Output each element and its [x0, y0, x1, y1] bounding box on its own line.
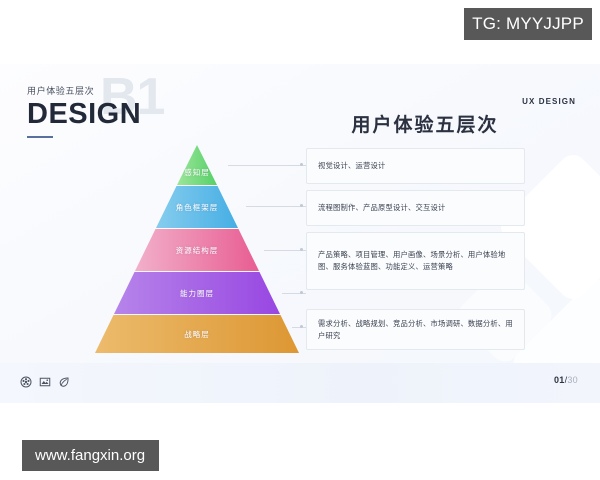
- image-frame-icon[interactable]: [39, 376, 51, 388]
- pyramid-layer-5-label: 战略层: [184, 329, 210, 340]
- pyramid-layer-2-label: 角色框架层: [176, 202, 219, 213]
- telegram-watermark-badge: TG: MYYJJPP: [464, 8, 592, 40]
- connector-line-2: [246, 206, 306, 207]
- connector-dot-4: [300, 291, 303, 294]
- connector-dot-5: [300, 325, 303, 328]
- detail-box-1[interactable]: 视觉设计、运营设计: [306, 148, 525, 184]
- connector-dot-3: [300, 248, 303, 251]
- screenshot-root: TG: MYYJJPP 用户体验五层次 B1 DESIGN UX DESIGN …: [0, 0, 600, 480]
- decorative-bottom-band: [0, 363, 600, 403]
- detail-box-3[interactable]: 产品策略、项目管理、用户画像、场景分析、用户体验地图、服务体验蓝图、功能定义、运…: [306, 232, 525, 290]
- header-accent-rule: [27, 136, 53, 138]
- detail-box-4-text: 需求分析、战略规划、竞品分析、市场调研、数据分析、用户研究: [318, 318, 513, 342]
- corner-tag: UX DESIGN: [522, 97, 576, 106]
- header-big-word: DESIGN: [27, 98, 141, 130]
- pyramid-layer-5[interactable]: 战略层: [95, 315, 299, 355]
- pyramid-layer-4[interactable]: 能力圈层: [95, 272, 299, 314]
- pyramid-layer-2[interactable]: 角色框架层: [95, 186, 299, 228]
- connector-dot-1: [300, 163, 303, 166]
- page-current: 01: [554, 375, 565, 385]
- connector-line-5: [292, 327, 306, 328]
- connector-dot-2: [300, 204, 303, 207]
- detail-box-2[interactable]: 流程图制作、产品原型设计、交互设计: [306, 190, 525, 226]
- website-watermark-badge: www.fangxin.org: [22, 440, 159, 471]
- slide-title: 用户体验五层次: [305, 110, 545, 137]
- detail-box-4[interactable]: 需求分析、战略规划、竞品分析、市场调研、数据分析、用户研究: [306, 309, 525, 350]
- page-indicator: 01/30: [554, 375, 578, 385]
- header-wordmark: B1 DESIGN: [27, 99, 247, 130]
- pyramid-layer-1-label: 感知层: [184, 167, 210, 178]
- footer-icon-group: [20, 376, 70, 388]
- presentation-slide: 用户体验五层次 B1 DESIGN UX DESIGN 用户体验五层次: [0, 64, 600, 403]
- pyramid-layer-3-label: 资源结构层: [176, 245, 219, 256]
- pyramid-diagram: 感知层 角色框架层: [95, 145, 299, 353]
- detail-box-3-text: 产品策略、项目管理、用户画像、场景分析、用户体验地图、服务体验蓝图、功能定义、运…: [318, 249, 513, 273]
- detail-box-2-text: 流程图制作、产品原型设计、交互设计: [318, 202, 445, 214]
- pyramid-layer-4-label: 能力圈层: [180, 288, 214, 299]
- film-reel-icon[interactable]: [20, 376, 32, 388]
- leaf-icon[interactable]: [58, 376, 70, 388]
- connector-line-1: [228, 165, 306, 166]
- slide-header: 用户体验五层次 B1 DESIGN: [27, 86, 247, 138]
- page-total: 30: [567, 375, 578, 385]
- detail-box-1-text: 视觉设计、运营设计: [318, 160, 385, 172]
